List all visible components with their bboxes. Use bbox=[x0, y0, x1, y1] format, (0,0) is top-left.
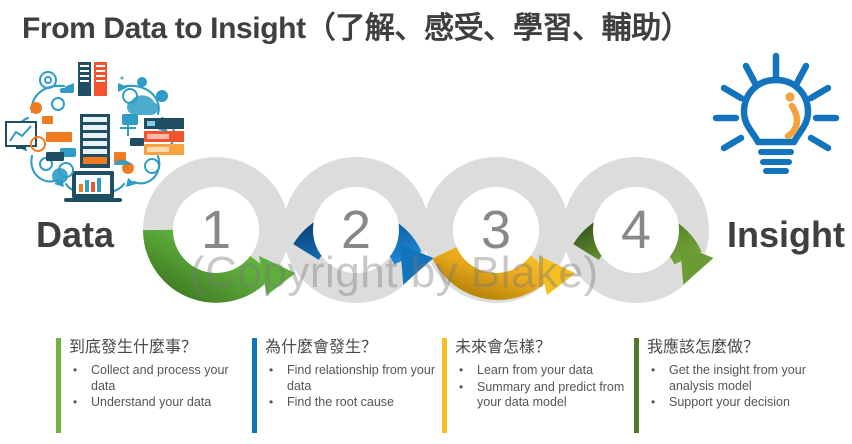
lightbulb-icon bbox=[708, 52, 844, 188]
bullet-icon: • bbox=[459, 363, 463, 379]
column-bullets: •Find relationship from your data •Find … bbox=[265, 363, 442, 411]
step-number-4: 4 bbox=[606, 198, 666, 262]
detail-column-2: 為什麼會發生？ •Find relationship from your dat… bbox=[252, 338, 442, 438]
bullet-icon: • bbox=[73, 363, 77, 379]
list-item-text: Collect and process your data bbox=[91, 363, 229, 393]
column-heading: 到底發生什麼事？ bbox=[69, 338, 252, 358]
list-item-text: Summary and predict from your data model bbox=[477, 380, 624, 410]
step-number-2: 2 bbox=[326, 198, 386, 262]
column-accent-bar bbox=[252, 338, 257, 433]
list-item-text: Find relationship from your data bbox=[287, 363, 435, 393]
detail-column-4: 我應該怎麼做？ •Get the insight from your analy… bbox=[634, 338, 844, 438]
detail-column-1: 到底發生什麼事？ •Collect and process your data … bbox=[56, 338, 252, 438]
list-item: •Get the insight from your analysis mode… bbox=[647, 363, 844, 394]
list-item: •Summary and predict from your data mode… bbox=[455, 380, 634, 411]
column-bullets: •Get the insight from your analysis mode… bbox=[647, 363, 844, 411]
page-title: From Data to Insight（了解、感受、學習、輔助） bbox=[22, 6, 842, 52]
bullet-icon: • bbox=[269, 395, 273, 411]
list-item-text: Find the root cause bbox=[287, 395, 394, 409]
list-item-text: Get the insight from your analysis model bbox=[669, 363, 806, 393]
list-item: •Understand your data bbox=[69, 395, 252, 411]
process-diagram: 1 2 3 4 bbox=[128, 140, 728, 320]
list-item: •Find the root cause bbox=[265, 395, 442, 411]
list-item: •Support your decision bbox=[647, 395, 844, 411]
list-item-text: Learn from your data bbox=[477, 363, 593, 377]
detail-column-3: 未來會怎樣？ •Learn from your data •Summary an… bbox=[442, 338, 634, 438]
column-heading: 為什麼會發生？ bbox=[265, 338, 442, 358]
slide-canvas: From Data to Insight（了解、感受、學習、輔助） bbox=[0, 0, 852, 444]
list-item-text: Support your decision bbox=[669, 395, 790, 409]
step-number-1: 1 bbox=[186, 198, 246, 262]
label-insight: Insight bbox=[727, 217, 845, 253]
bullet-icon: • bbox=[651, 395, 655, 411]
column-accent-bar bbox=[634, 338, 639, 433]
column-bullets: •Learn from your data •Summary and predi… bbox=[455, 363, 634, 411]
column-bullets: •Collect and process your data •Understa… bbox=[69, 363, 252, 411]
column-accent-bar bbox=[56, 338, 61, 433]
detail-columns: 到底發生什麼事？ •Collect and process your data … bbox=[56, 338, 844, 438]
list-item: •Collect and process your data bbox=[69, 363, 252, 394]
list-item: •Find relationship from your data bbox=[265, 363, 442, 394]
bullet-icon: • bbox=[269, 363, 273, 379]
list-item-text: Understand your data bbox=[91, 395, 211, 409]
step-number-3: 3 bbox=[466, 198, 526, 262]
bullet-icon: • bbox=[73, 395, 77, 411]
label-data: Data bbox=[36, 217, 114, 253]
list-item: •Learn from your data bbox=[455, 363, 634, 379]
column-heading: 未來會怎樣？ bbox=[455, 338, 634, 358]
column-accent-bar bbox=[442, 338, 447, 433]
bullet-icon: • bbox=[459, 380, 463, 396]
bullet-icon: • bbox=[651, 363, 655, 379]
column-heading: 我應該怎麼做？ bbox=[647, 338, 844, 358]
